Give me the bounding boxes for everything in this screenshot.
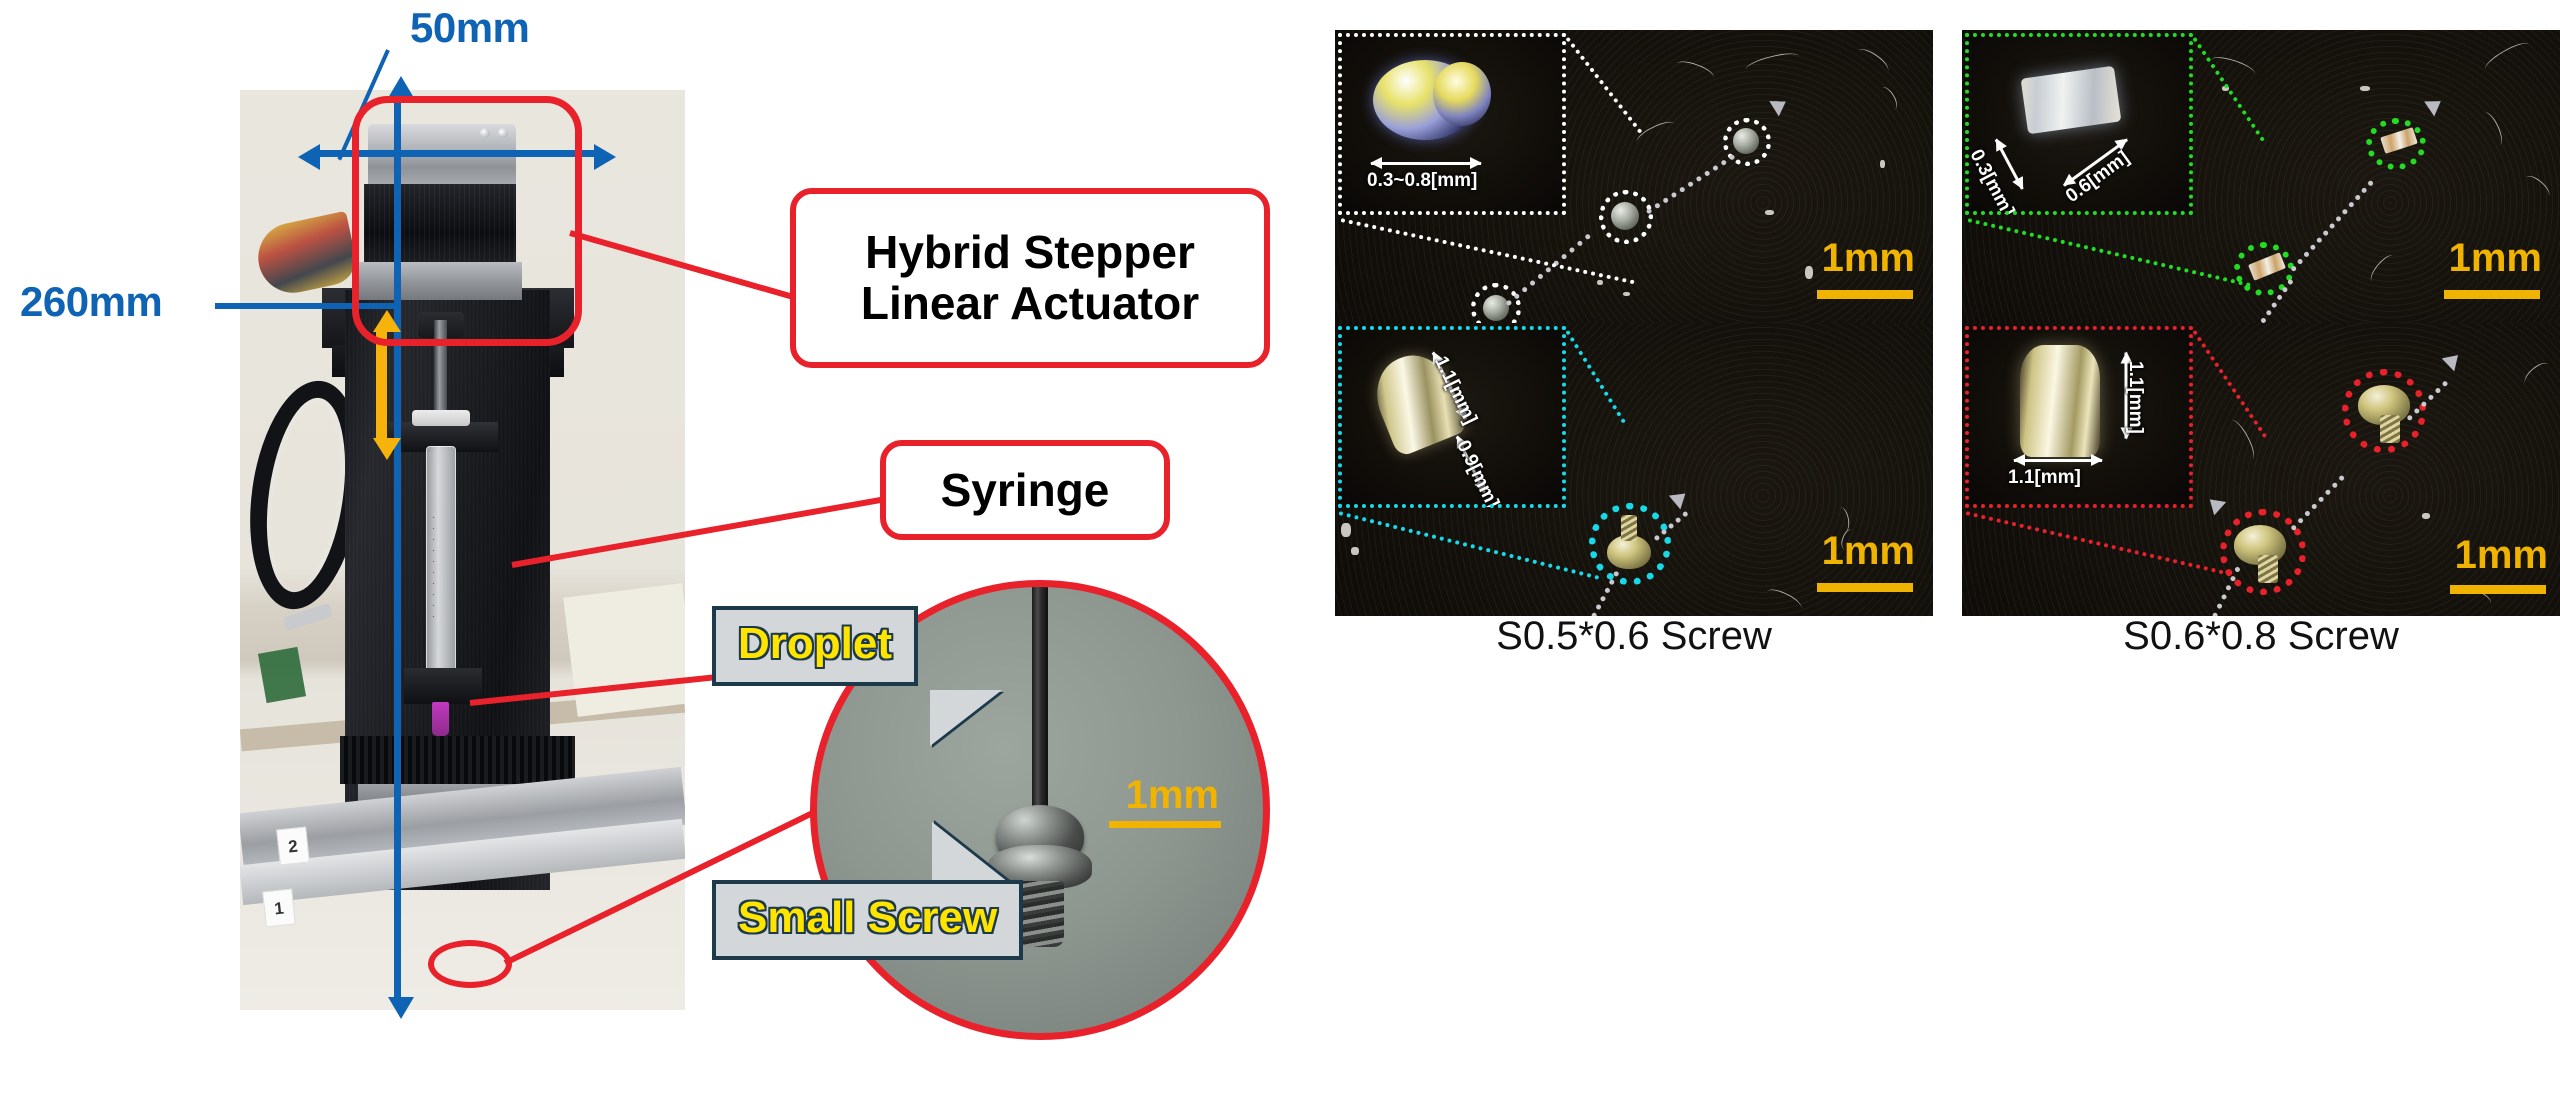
panel-screw-s06x08: 1.1[mm] 1.1[mm] 1mm S0.6*0.8 Screw bbox=[1962, 323, 2560, 363]
base-plate bbox=[340, 736, 575, 784]
highlight-circle-near bbox=[1589, 503, 1671, 585]
scale-label-glass: 1mm bbox=[1822, 236, 1915, 281]
callout-syringe[interactable]: Syringe bbox=[880, 440, 1170, 540]
panel-screw-s05x06: 1.1[mm] 0.9[mm] 1mm S0.5*0.6 Screw bbox=[1335, 323, 1933, 363]
callout-actuator-line2: Linear Actuator bbox=[861, 278, 1199, 329]
scale-bar-capacitor bbox=[2444, 290, 2540, 299]
scale-label-screw-s06: 1mm bbox=[2455, 533, 2548, 578]
actuator-highlight-box bbox=[352, 96, 582, 346]
inset-border-screw-s05 bbox=[1338, 326, 1566, 508]
panel-glass-beads: 0.3~0.8[mm] 1mm Glass Beads bbox=[1335, 30, 1933, 323]
highlight-circle-mid bbox=[1599, 190, 1653, 244]
small-screw-callout-pointer bbox=[932, 822, 1008, 882]
figure-root: 2 1 50mm 260mm Hybrid Stepper Linear Act… bbox=[0, 0, 2560, 1095]
syringe-holder-foot bbox=[404, 668, 482, 704]
screw-s06-micrograph: 1.1[mm] 1.1[mm] 1mm bbox=[1962, 323, 2560, 616]
width-dimension-label: 50mm bbox=[410, 4, 529, 52]
highlight-circle-far bbox=[2366, 118, 2426, 170]
screw-s05-micrograph: 1.1[mm] 0.9[mm] 1mm bbox=[1335, 323, 1933, 616]
magnifier-scale-bar bbox=[1109, 821, 1221, 828]
caption-screw-s05x06: S0.5*0.6 Screw bbox=[1335, 616, 1933, 656]
scale-bar-screw-s05 bbox=[1817, 583, 1913, 592]
scale-bar-screw-s06 bbox=[2450, 585, 2546, 594]
syringe-barrel bbox=[426, 446, 456, 676]
callout-actuator-line1: Hybrid Stepper bbox=[865, 227, 1195, 278]
caption-screw-s06x08: S0.6*0.8 Screw bbox=[1962, 616, 2560, 656]
stroke-direction-arrow bbox=[376, 330, 387, 440]
rail-label-2: 2 bbox=[276, 827, 310, 866]
inset-border-screw-s06 bbox=[1965, 326, 2193, 508]
device-overview-panel: 2 1 50mm 260mm Hybrid Stepper Linear Act… bbox=[0, 0, 1300, 1095]
magnifier-scale-label: 1mm bbox=[1126, 773, 1219, 818]
panel-0603-capacitor: 0.3[mm] 0.6[mm] 1mm 0603 Capacitor bbox=[1962, 30, 2560, 323]
droplet-callout-pointer bbox=[930, 690, 1002, 746]
callout-hybrid-stepper-linear-actuator[interactable]: Hybrid Stepper Linear Actuator bbox=[790, 188, 1270, 368]
rail-label-1: 1 bbox=[262, 889, 296, 928]
plunger-flange bbox=[412, 410, 470, 426]
dispensing-needle bbox=[1032, 583, 1048, 813]
nozzle-highlight-ellipse bbox=[428, 940, 512, 988]
needle-hub bbox=[432, 702, 449, 736]
callout-syringe-label: Syringe bbox=[941, 465, 1110, 516]
callout-small-screw[interactable]: Small Screw bbox=[712, 880, 1023, 960]
callout-droplet[interactable]: Droplet bbox=[712, 606, 918, 686]
pcb-board bbox=[258, 647, 306, 703]
inset-border-glass bbox=[1338, 33, 1566, 215]
glass-beads-micrograph: 0.3~0.8[mm] 1mm bbox=[1335, 30, 1933, 323]
scale-label-screw-s05: 1mm bbox=[1822, 529, 1915, 574]
capacitor-micrograph: 0.3[mm] 0.6[mm] 1mm bbox=[1962, 30, 2560, 323]
motor-wiring-harness bbox=[252, 211, 360, 299]
scale-bar-glass bbox=[1817, 290, 1913, 299]
foam-pad bbox=[563, 583, 685, 717]
scale-label-capacitor: 1mm bbox=[2449, 236, 2542, 281]
micro-parts-panel-grid: 0.3~0.8[mm] 1mm Glass Beads bbox=[1335, 30, 2560, 1090]
height-dimension-label: 260mm bbox=[20, 278, 162, 326]
inset-border-capacitor bbox=[1965, 33, 2193, 215]
